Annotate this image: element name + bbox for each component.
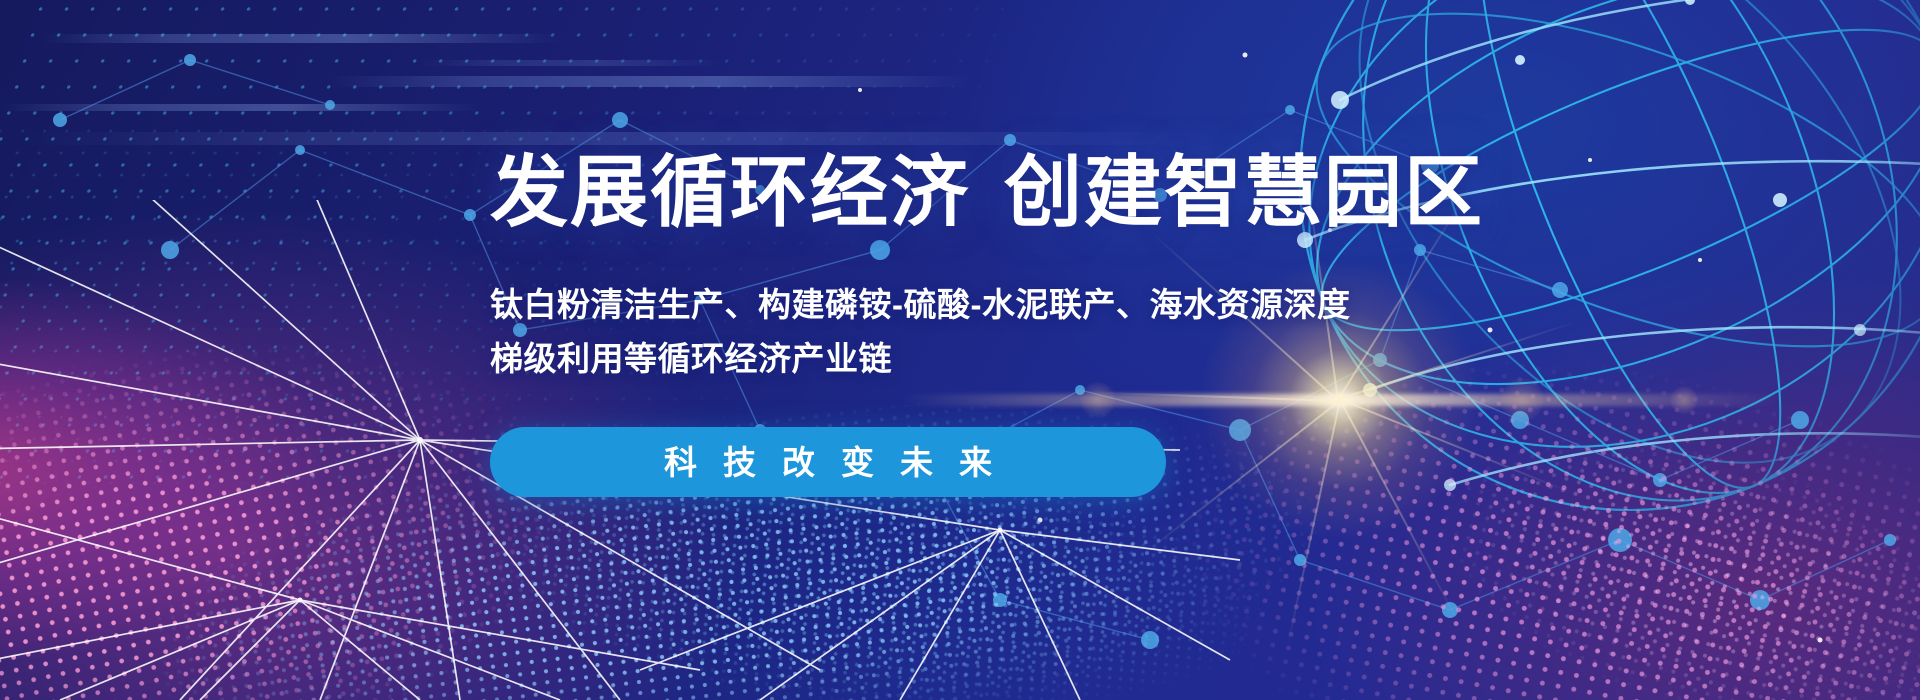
hero-banner: 发展循环经济创建智慧园区 钛白粉清洁生产、构建磷铵-硫酸-水泥联产、海水资源深度…	[0, 0, 1920, 700]
banner-title-part1: 发展循环经济	[490, 148, 970, 236]
cta-button[interactable]: 科技改变未来	[490, 427, 1166, 497]
banner-subtitle: 钛白粉清洁生产、构建磷铵-硫酸-水泥联产、海水资源深度 梯级利用等循环经济产业链	[490, 278, 1490, 385]
banner-subtitle-line2: 梯级利用等循环经济产业链	[490, 332, 1490, 385]
banner-subtitle-line1: 钛白粉清洁生产、构建磷铵-硫酸-水泥联产、海水资源深度	[490, 286, 1350, 323]
banner-title: 发展循环经济创建智慧园区	[490, 150, 1490, 234]
banner-content: 发展循环经济创建智慧园区 钛白粉清洁生产、构建磷铵-硫酸-水泥联产、海水资源深度…	[490, 150, 1490, 497]
banner-title-part2: 创建智慧园区	[1004, 148, 1484, 236]
